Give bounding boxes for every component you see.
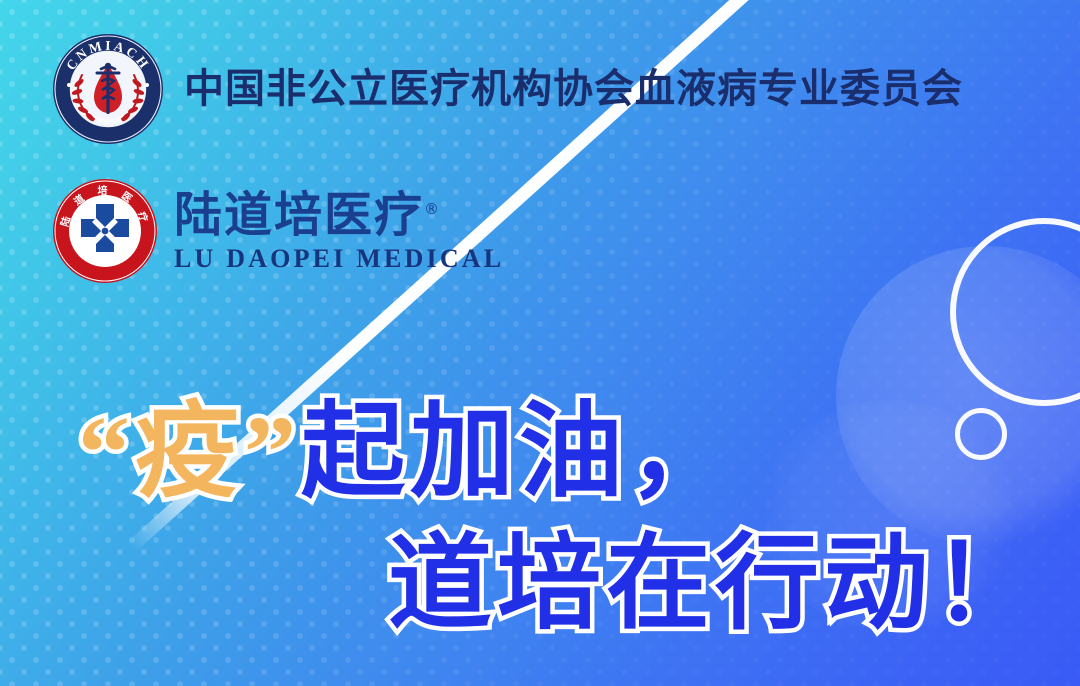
poster-canvas: CNMIACH 中国非公立医疗机构协会血液病专业委员会 (0, 0, 1080, 686)
background-light-blob-secondary (760, 400, 1020, 630)
cnmiach-seal-icon: CNMIACH 中国非公立医疗机构协会血液病专业委员会 (52, 33, 164, 145)
association-header: CNMIACH 中国非公立医疗机构协会血液病专业委员会 (52, 33, 963, 145)
circle-outline-large-icon (950, 218, 1080, 406)
slogan-open-quote: “ (78, 395, 135, 510)
registered-trademark-icon: ® (424, 200, 441, 218)
brand-name-cn-wrap: 陆道培医疗® (174, 191, 441, 239)
slogan-line-2: 道培在行动！ (0, 524, 1080, 642)
association-title: 中国非公立医疗机构协会血液病专业委员会 (184, 69, 963, 109)
brand-header: 陆 道 培 医 疗 LU DAOPEI MEDICAL (52, 178, 504, 284)
slogan-line-1-rest: 起加油， (301, 390, 737, 512)
slogan-close-quote: ” (244, 395, 301, 510)
circle-outline-small-icon (955, 408, 1007, 460)
slogan-block: “疫”起加油， 道培在行动！ (0, 392, 1080, 642)
slogan-highlight-char: 疫 (135, 390, 244, 512)
slogan-line-1: “疫”起加油， (0, 392, 1080, 512)
brand-name-en: LU DAOPEI MEDICAL (174, 246, 504, 272)
lu-daopei-seal-icon: 陆 道 培 医 疗 LU DAOPEI MEDICAL (52, 178, 158, 284)
brand-text-block: 陆道培医疗® LU DAOPEI MEDICAL (174, 191, 504, 272)
background-light-blob (836, 246, 1080, 546)
slogan-line-2-text: 道培在行动！ (388, 522, 1042, 644)
brand-name-cn: 陆道培医疗 (174, 187, 424, 243)
